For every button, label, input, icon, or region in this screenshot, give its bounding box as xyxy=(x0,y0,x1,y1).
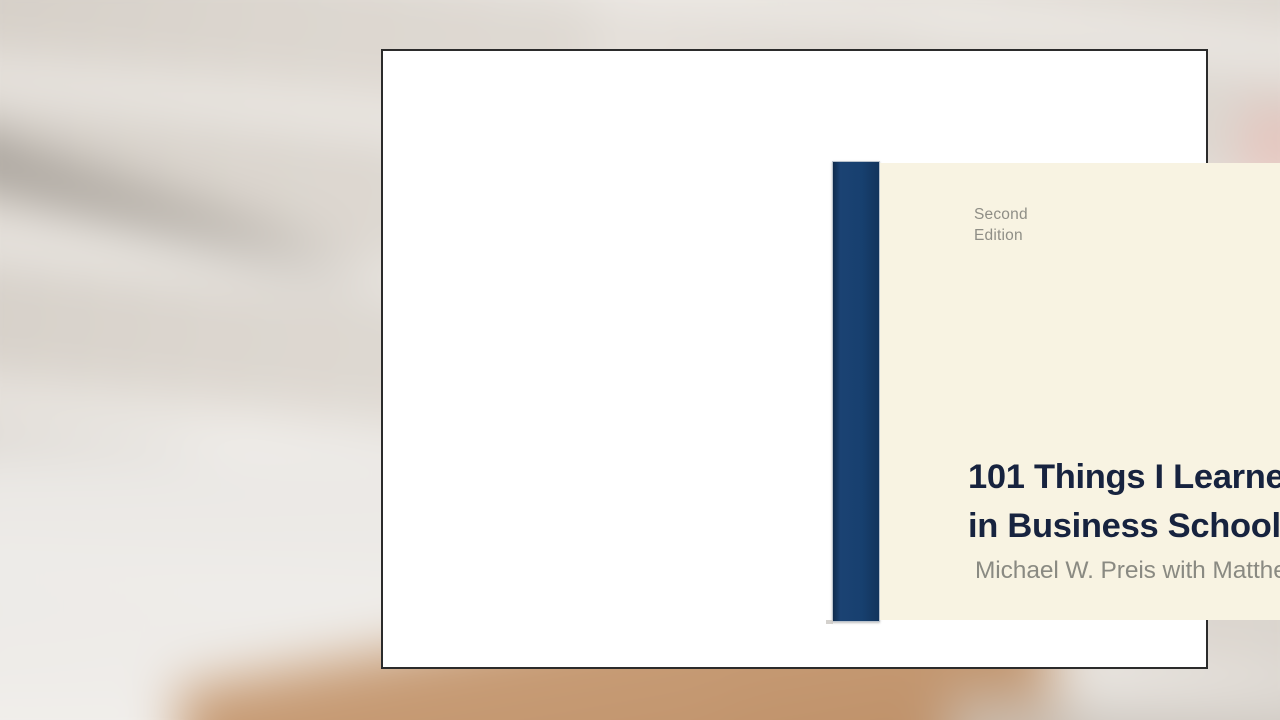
product-image-panel: Second Edition xyxy=(381,49,1208,669)
book-authors: Michael W. Preis with Matthew Frederick xyxy=(975,557,1280,585)
book-corner-smudge xyxy=(826,620,833,624)
edition-label: Second Edition xyxy=(974,204,1028,246)
book-title: 101 Things I Learned® in Business School xyxy=(968,453,1280,551)
book-title-line-2: in Business School xyxy=(968,502,1280,551)
book-title-text-1: 101 Things I Learned xyxy=(968,458,1280,496)
book-cover-image[interactable]: Second Edition xyxy=(832,161,1280,622)
book-spine xyxy=(832,161,880,622)
screenshot-stage: Second Edition xyxy=(0,0,1280,720)
book-title-line-1: 101 Things I Learned® xyxy=(968,453,1280,502)
background-floor-right xyxy=(948,696,1280,720)
book-front-cover: Second Edition xyxy=(880,163,1280,620)
